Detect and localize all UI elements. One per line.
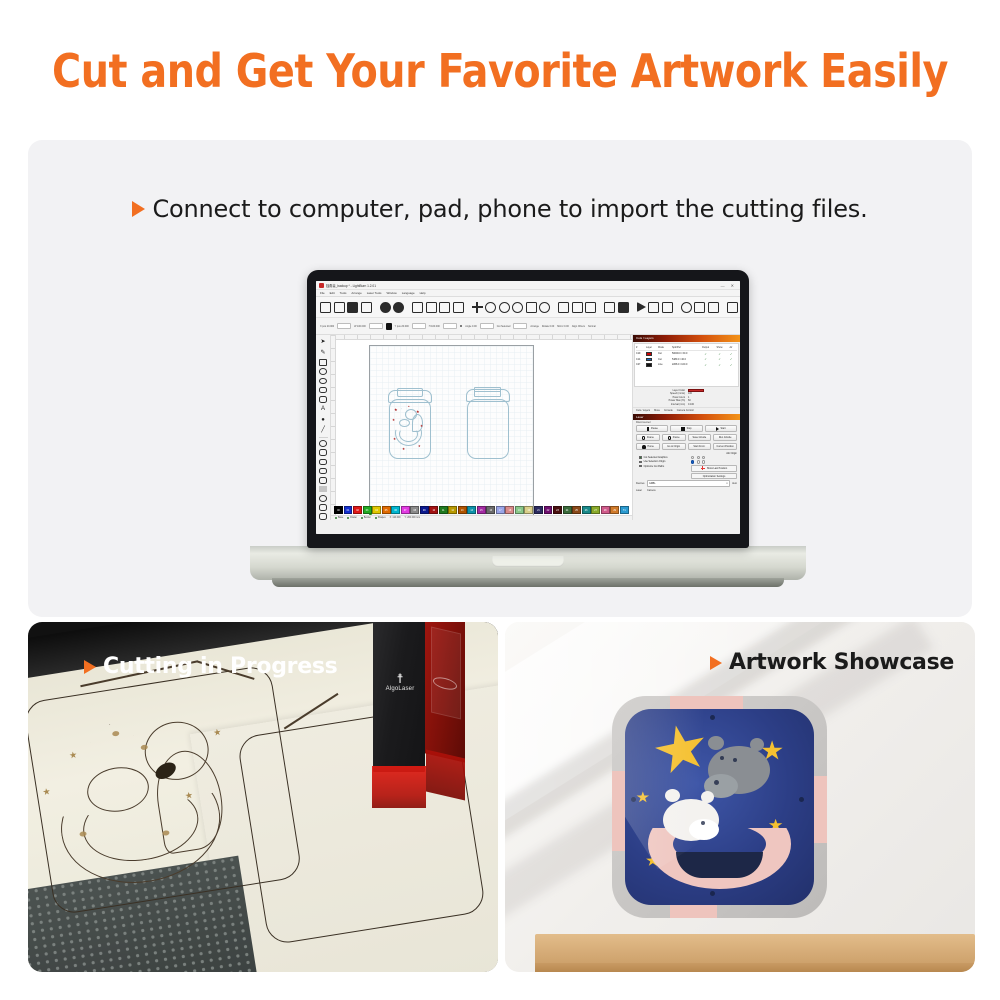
palette-swatch[interactable]: 17 bbox=[496, 506, 505, 514]
rotate-label: Rotate 0.00 bbox=[542, 325, 554, 328]
device-label: Devices bbox=[636, 482, 645, 485]
cuts-layers-panel-title: Cuts / Layers bbox=[633, 335, 740, 342]
palette-swatch[interactable]: 24 bbox=[563, 506, 572, 514]
grid-array-icon[interactable] bbox=[319, 486, 327, 492]
play-triangle-icon bbox=[132, 201, 145, 217]
design-shape-jar-right-neck-line[interactable] bbox=[474, 391, 501, 392]
weld-icon[interactable] bbox=[319, 477, 327, 484]
status-bar: Base Drawn Border bbox=[331, 515, 632, 521]
align-center-icon[interactable] bbox=[648, 302, 659, 313]
main-toolbar[interactable] bbox=[316, 297, 740, 318]
palette-swatch[interactable]: 26 bbox=[582, 506, 591, 514]
row-spdpwr: 2268.0 / 100.0 bbox=[672, 363, 698, 366]
menu-bar[interactable]: File Edit Tools Arrange Laser Tools Wind… bbox=[316, 290, 740, 297]
window-buttons[interactable]: — ✕ bbox=[721, 283, 737, 288]
polygon-icon[interactable] bbox=[319, 396, 327, 403]
angle-label: Angle 0.00 bbox=[465, 325, 476, 328]
design-node-star-icon: ★ bbox=[416, 409, 420, 414]
print-cut-icon[interactable] bbox=[319, 513, 327, 520]
cutting-badge-label: Cutting in Progress bbox=[103, 654, 337, 679]
redo-icon[interactable] bbox=[393, 302, 404, 313]
showcase-badge: Artwork Showcase bbox=[710, 650, 954, 675]
cuts-layers-table[interactable]: # Layer Mode Spd/Pwr Output Show Air bbox=[634, 343, 739, 387]
h-input[interactable] bbox=[443, 323, 457, 329]
start-from-label: Start From: bbox=[688, 443, 712, 450]
minimize-icon[interactable]: — bbox=[721, 283, 725, 288]
burn-star-icon: ★ bbox=[184, 790, 194, 802]
row-spdpwr: 50000.0 / 60.0 bbox=[672, 352, 698, 355]
home-button[interactable]: Home bbox=[636, 443, 660, 450]
zoom-in-icon[interactable] bbox=[485, 302, 496, 313]
design-node-star-icon: ★ bbox=[418, 444, 421, 448]
start-from-value[interactable]: Current Position bbox=[713, 443, 737, 450]
play-triangle-icon bbox=[710, 656, 722, 670]
design-shape-hippo-lower[interactable] bbox=[399, 419, 410, 427]
palette-swatch[interactable]: T1 bbox=[620, 506, 629, 514]
mounting-hole bbox=[799, 797, 804, 802]
row-output[interactable]: ✓ bbox=[699, 363, 712, 367]
lightburn-logo-icon bbox=[319, 283, 324, 288]
open-file-icon[interactable] bbox=[334, 302, 345, 313]
status-x: X: 110.000 bbox=[390, 517, 401, 519]
angle-input[interactable] bbox=[480, 323, 494, 329]
menu-laser-tools[interactable]: Laser Tools bbox=[367, 291, 382, 295]
zoom-fit-icon[interactable] bbox=[512, 302, 523, 313]
menu-edit[interactable]: Edit bbox=[330, 291, 335, 295]
status-border: Border bbox=[361, 517, 371, 519]
table-row[interactable]: C27 Line 2268.0 / 100.0 ✓ ✓ ✓ bbox=[636, 362, 737, 368]
palette-swatch[interactable]: 03 bbox=[363, 506, 372, 514]
new-file-icon[interactable] bbox=[320, 302, 331, 313]
origin-cell-mc[interactable] bbox=[697, 460, 700, 463]
cut-icon[interactable] bbox=[412, 302, 423, 313]
option-optimize-cut-paths[interactable]: Optimize Cut Paths bbox=[636, 464, 688, 468]
origin-cell-tl[interactable] bbox=[691, 456, 694, 459]
palette-swatch[interactable]: 09 bbox=[420, 506, 429, 514]
palette-swatch[interactable]: 15 bbox=[477, 506, 486, 514]
align-left-icon[interactable] bbox=[637, 302, 646, 312]
laser-module-front: ☨ AlgoLaser bbox=[373, 622, 425, 772]
status-base: Base bbox=[335, 517, 343, 519]
layer-color-label: Layer Color bbox=[636, 389, 685, 392]
go-to-origin-button[interactable]: Go to Origin bbox=[662, 443, 686, 450]
status-dot-icon bbox=[361, 517, 363, 519]
row-num: C14 bbox=[636, 358, 645, 361]
palette-swatch[interactable]: 22 bbox=[544, 506, 553, 514]
edit-nodes-icon[interactable]: ✎ bbox=[319, 349, 327, 357]
layer-color-swatch bbox=[688, 389, 704, 392]
edit-nodes-icon[interactable] bbox=[572, 302, 583, 313]
h-label: H 100.000 bbox=[429, 325, 440, 328]
laser-transport-buttons[interactable]: Pause Stop Start bbox=[633, 424, 740, 433]
row-air[interactable]: ✓ bbox=[727, 357, 735, 361]
crosshair-icon bbox=[701, 466, 705, 470]
job-origin-selector[interactable] bbox=[691, 456, 737, 464]
row-spdpwr: 5489.0 / 40.0 bbox=[672, 358, 698, 361]
algolaser-brand-text: AlgoLaser bbox=[385, 686, 415, 692]
wooden-shelf-edge bbox=[535, 963, 975, 972]
laser-panel: Laser Disconnected Pause bbox=[633, 414, 740, 493]
radial-array-icon[interactable] bbox=[319, 495, 327, 502]
design-node-star-icon: ★ bbox=[392, 418, 395, 422]
menu-tools[interactable]: Tools bbox=[340, 291, 347, 295]
w-label: W 100.000 bbox=[354, 325, 366, 328]
row-mode[interactable]: Cut bbox=[658, 352, 671, 355]
algolaser-logo-icon: ☨ bbox=[385, 672, 415, 685]
y-pos-label: Y pos 20.000 bbox=[395, 325, 409, 328]
normal-label: Normal bbox=[588, 325, 596, 328]
checkbox-icon bbox=[639, 461, 642, 464]
col-mode: Mode bbox=[658, 346, 671, 349]
play-triangle-icon bbox=[84, 660, 96, 674]
work-area[interactable]: ★ ★ ★ ★ ★ ★ ★ ● bbox=[369, 345, 534, 517]
frame-icon bbox=[642, 436, 646, 440]
layer-color-value[interactable] bbox=[688, 389, 737, 392]
app-title-bar: 独角兽_backup * - LightBurn 1.2.01 — ✕ bbox=[316, 281, 740, 290]
mirror-label: Mirror 0.00 bbox=[557, 325, 569, 328]
row-show[interactable]: ✓ bbox=[713, 357, 726, 361]
boolean-intersect-icon[interactable] bbox=[319, 468, 327, 475]
palette-swatch[interactable]: 07 bbox=[401, 506, 410, 514]
tab-cuts-layers[interactable]: Cuts / Layers bbox=[636, 409, 650, 412]
row-output[interactable]: ✓ bbox=[699, 357, 712, 361]
y-pos-input[interactable] bbox=[412, 323, 426, 329]
frame-icon[interactable] bbox=[558, 302, 569, 313]
row-layer-color[interactable] bbox=[646, 363, 657, 367]
delete-icon[interactable] bbox=[453, 302, 464, 313]
row-num: C27 bbox=[636, 363, 645, 366]
laptop-mockup: 独角兽_backup * - LightBurn 1.2.01 — ✕ File… bbox=[250, 270, 806, 595]
artwork-showcase-card: Artwork Showcase bbox=[505, 622, 975, 972]
save-icon[interactable] bbox=[347, 302, 358, 313]
design-artwork-group[interactable]: ★ ★ ★ ★ ★ ★ ★ ● bbox=[394, 406, 426, 452]
text-icon[interactable]: A bbox=[319, 405, 327, 413]
plaque-inner-blue-panel bbox=[625, 709, 814, 905]
properties-toolbar[interactable]: X pos 20.000 W 100.000 Y pos 20.000 H 10… bbox=[316, 318, 740, 335]
w-input[interactable] bbox=[369, 323, 383, 329]
palette-swatch[interactable]: 04 bbox=[372, 506, 381, 514]
frame-round-icon bbox=[668, 436, 672, 440]
tab-move[interactable]: Move bbox=[654, 409, 660, 412]
page-root: Cut and Get Your Favorite Artwork Easily… bbox=[0, 0, 1000, 1000]
row-air[interactable]: ✓ bbox=[727, 363, 735, 367]
ungroup-icon[interactable] bbox=[618, 302, 629, 313]
run-gcode-button[interactable]: Run GCode bbox=[713, 434, 737, 441]
origin-cell-mr[interactable] bbox=[702, 460, 705, 463]
align-right-icon[interactable] bbox=[662, 302, 673, 313]
row-layer-color[interactable] bbox=[646, 352, 657, 356]
col-air: Air bbox=[727, 346, 735, 349]
cut-selected-input[interactable] bbox=[513, 323, 527, 329]
weld-icon[interactable] bbox=[727, 302, 738, 313]
trace-image-icon[interactable] bbox=[319, 504, 327, 511]
palette-swatch[interactable]: 08 bbox=[410, 506, 419, 514]
interval-value[interactable]: 0.100 bbox=[688, 403, 737, 406]
optimization-settings-button[interactable]: Optimization Settings bbox=[691, 473, 737, 479]
checkbox-icon bbox=[639, 465, 642, 468]
row-show[interactable]: ✓ bbox=[713, 363, 726, 367]
mirror-icon[interactable] bbox=[694, 302, 705, 313]
palette-swatch[interactable]: 05 bbox=[382, 506, 391, 514]
right-dock: Cuts / Layers # Layer Mode Spd/Pwr Outpu… bbox=[632, 335, 740, 520]
design-shape-jar-left-neck[interactable] bbox=[397, 388, 423, 397]
artwork-plaque bbox=[612, 696, 827, 918]
position-marker-icon[interactable]: ● bbox=[319, 416, 327, 424]
zoom-out-icon[interactable] bbox=[499, 302, 510, 313]
status-shapes: Shapes bbox=[375, 517, 386, 519]
gray-hippo-ear-right bbox=[750, 738, 764, 751]
menu-arrange[interactable]: Arrange bbox=[351, 291, 361, 295]
status-dot-icon bbox=[347, 517, 349, 519]
job-origin-label: Job Origin bbox=[726, 452, 737, 455]
palette-swatch[interactable]: 19 bbox=[515, 506, 524, 514]
play-icon bbox=[716, 427, 719, 431]
device-select[interactable]: GRBL ▾ bbox=[647, 480, 731, 487]
frame-button[interactable]: Frame bbox=[636, 434, 660, 441]
laptop-screen: 独角兽_backup * - LightBurn 1.2.01 — ✕ File… bbox=[316, 281, 740, 534]
cutting-in-progress-card: ★ ★ ★ ★ ☨ AlgoLaser bbox=[28, 622, 498, 972]
laser-module-red-shield bbox=[372, 766, 426, 808]
palette-swatch[interactable]: 20 bbox=[524, 506, 533, 514]
palette-swatch[interactable]: 01 bbox=[344, 506, 353, 514]
anchor-dot-icon[interactable] bbox=[460, 325, 463, 328]
laser-module: ☨ AlgoLaser bbox=[373, 622, 459, 814]
row-num: C19 bbox=[636, 352, 645, 355]
show-last-position-button[interactable]: Show Last Position bbox=[691, 465, 737, 472]
origin-cell-tc[interactable] bbox=[697, 456, 700, 459]
showcase-badge-label: Artwork Showcase bbox=[729, 650, 954, 675]
device-mode: Auto bbox=[732, 482, 737, 485]
offset-icon[interactable] bbox=[319, 440, 327, 447]
pause-button[interactable]: Pause bbox=[636, 425, 668, 432]
row-show[interactable]: ✓ bbox=[713, 352, 726, 356]
align-others-label: Align Others bbox=[572, 325, 585, 328]
save-gcode-button[interactable]: Save GCode bbox=[688, 434, 712, 441]
rectangle-icon[interactable] bbox=[319, 359, 327, 366]
origin-cell-tr[interactable] bbox=[702, 456, 705, 459]
col-layer: Layer bbox=[646, 346, 657, 349]
chevron-down-icon: ▾ bbox=[726, 482, 727, 485]
col-show: Show bbox=[713, 346, 726, 349]
stop-icon bbox=[681, 427, 685, 431]
laptop-base bbox=[250, 546, 806, 580]
burn-star-icon: ★ bbox=[68, 750, 78, 762]
palette-swatch[interactable]: 27 bbox=[591, 506, 600, 514]
lock-icon[interactable] bbox=[386, 323, 392, 330]
palette-swatch[interactable]: 14 bbox=[467, 506, 476, 514]
row-output[interactable]: ✓ bbox=[699, 352, 712, 356]
save-as-icon[interactable] bbox=[361, 302, 372, 313]
toolbar-divider bbox=[319, 437, 328, 438]
laptop-lid: 独角兽_backup * - LightBurn 1.2.01 — ✕ File… bbox=[307, 270, 749, 548]
design-node-dot-icon: ● bbox=[408, 405, 410, 408]
laser-options-block: Cut Selected Graphics Use Selection Orig… bbox=[633, 456, 740, 480]
interval-label: Interval (mm) bbox=[636, 403, 685, 406]
zoom-page-icon[interactable] bbox=[539, 302, 550, 313]
top-card-subtitle-row: Connect to computer, pad, phone to impor… bbox=[28, 195, 972, 223]
design-shape-tail[interactable] bbox=[412, 414, 423, 432]
cuts-layers-tabs[interactable]: Cuts / Layers Move Console Camera Contro… bbox=[633, 407, 740, 413]
copy-icon[interactable] bbox=[426, 302, 437, 313]
design-shape-jar-right-neck[interactable] bbox=[474, 387, 501, 397]
menu-help[interactable]: Help bbox=[420, 291, 426, 295]
home-icon bbox=[642, 445, 646, 449]
pause-icon bbox=[647, 427, 650, 431]
circle-icon[interactable] bbox=[319, 378, 327, 385]
laptop-foot bbox=[272, 578, 784, 587]
left-toolbar[interactable]: ➤ ✎ A ● ╱ bbox=[316, 335, 331, 520]
laser-tabs[interactable]: Laser Camera bbox=[633, 488, 740, 493]
boolean-subtract-icon[interactable] bbox=[319, 459, 327, 466]
rotate-icon[interactable] bbox=[681, 302, 692, 313]
top-card: Connect to computer, pad, phone to impor… bbox=[28, 140, 972, 617]
group-icon[interactable] bbox=[604, 302, 615, 313]
undo-icon[interactable] bbox=[380, 302, 391, 313]
checkbox-icon bbox=[639, 456, 642, 459]
ellipse-icon[interactable] bbox=[319, 368, 327, 375]
paste-icon[interactable] bbox=[439, 302, 450, 313]
top-card-subtitle: Connect to computer, pad, phone to impor… bbox=[152, 195, 867, 223]
stop-button[interactable]: Stop bbox=[670, 425, 702, 432]
boolean-union-icon[interactable] bbox=[319, 449, 327, 456]
row-mode[interactable]: Cut bbox=[658, 358, 671, 361]
laser-frame-buttons[interactable]: Frame Frame Save GCode Run GCode bbox=[633, 433, 740, 442]
tab-laser[interactable]: Laser bbox=[636, 489, 642, 492]
palette-swatch[interactable]: 02 bbox=[353, 506, 362, 514]
row-layer-color[interactable] bbox=[646, 358, 657, 362]
palette-swatch[interactable]: 12 bbox=[448, 506, 457, 514]
cut-selected-label: Cut Selected bbox=[497, 325, 511, 328]
origin-cell-ml[interactable] bbox=[691, 460, 694, 463]
design-node-star-icon: ★ bbox=[394, 407, 398, 412]
col-output: Output bbox=[699, 346, 712, 349]
palette-swatch[interactable]: 25 bbox=[572, 506, 581, 514]
palette-swatch[interactable]: 28 bbox=[601, 506, 610, 514]
frame-round-button[interactable]: Frame bbox=[662, 434, 686, 441]
row-air[interactable]: ✓ bbox=[727, 352, 735, 356]
palette-swatch[interactable]: 18 bbox=[505, 506, 514, 514]
menu-file[interactable]: File bbox=[320, 291, 325, 295]
app-body: ➤ ✎ A ● ╱ bbox=[316, 335, 740, 520]
laser-origin-buttons[interactable]: Home Go to Origin Start From: Current Po… bbox=[633, 442, 740, 451]
status-dot-icon bbox=[335, 517, 337, 519]
design-canvas[interactable]: ★ ★ ★ ★ ★ ★ ★ ● bbox=[336, 340, 632, 520]
select-arrow-icon[interactable]: ➤ bbox=[319, 338, 327, 346]
col-spdpwr: Spd/Pwr bbox=[672, 346, 698, 349]
algolaser-logo: ☨ AlgoLaser bbox=[385, 672, 415, 692]
zoom-selection-icon[interactable] bbox=[526, 302, 537, 313]
tab-camera[interactable]: Camera bbox=[647, 489, 656, 492]
laser-module-label bbox=[431, 627, 461, 720]
x-pos-input[interactable] bbox=[337, 323, 351, 329]
color-palette[interactable]: 0001020304050607080910111213141516171819… bbox=[331, 506, 632, 515]
menu-language[interactable]: Language bbox=[402, 291, 415, 295]
arrange-label: Arrange bbox=[530, 325, 539, 328]
close-icon[interactable]: ✕ bbox=[731, 283, 734, 288]
start-button[interactable]: Start bbox=[705, 425, 737, 432]
design-shape-jar-right-body[interactable] bbox=[467, 399, 509, 459]
window-title: 独角兽_backup * - LightBurn 1.2.01 bbox=[326, 283, 376, 288]
design-node-star-icon: ★ bbox=[402, 447, 405, 451]
burn-star-icon: ★ bbox=[42, 786, 52, 798]
mouth-slot bbox=[676, 852, 763, 878]
mounting-hole bbox=[710, 891, 715, 896]
offset-icon[interactable] bbox=[708, 302, 719, 313]
design-node-star-icon: ★ bbox=[393, 437, 396, 441]
cut-shapes-icon[interactable] bbox=[585, 302, 596, 313]
status-dot-icon bbox=[375, 517, 377, 519]
tab-camera-control[interactable]: Camera Control bbox=[677, 409, 694, 412]
tab-console[interactable]: Console bbox=[664, 409, 673, 412]
palette-swatch[interactable]: 11 bbox=[439, 506, 448, 514]
palette-swatch[interactable]: 00 bbox=[334, 506, 343, 514]
rounded-rect-icon[interactable] bbox=[319, 387, 327, 394]
cutting-badge: Cutting in Progress bbox=[84, 654, 337, 679]
canvas-area[interactable]: ★ ★ ★ ★ ★ ★ ★ ● bbox=[331, 335, 632, 520]
palette-swatch[interactable]: 16 bbox=[486, 506, 495, 514]
palette-swatch[interactable]: 13 bbox=[458, 506, 467, 514]
x-pos-label: X pos 20.000 bbox=[320, 325, 334, 328]
lightburn-app: 独角兽_backup * - LightBurn 1.2.01 — ✕ File… bbox=[316, 281, 740, 534]
move-icon[interactable] bbox=[472, 302, 483, 313]
page-title: Cut and Get Your Favorite Artwork Easily bbox=[20, 44, 980, 98]
line-icon[interactable]: ╱ bbox=[319, 426, 327, 434]
status-y: Y: 200.000 mm bbox=[405, 517, 420, 519]
design-node-star-icon: ★ bbox=[420, 424, 423, 428]
laser-module-base-side bbox=[426, 749, 465, 800]
palette-swatch[interactable]: 10 bbox=[429, 506, 438, 514]
menu-window[interactable]: Window bbox=[386, 291, 396, 295]
palette-swatch[interactable]: 23 bbox=[553, 506, 562, 514]
palette-swatch[interactable]: 29 bbox=[610, 506, 619, 514]
col-num: # bbox=[636, 346, 645, 349]
status-drawn: Drawn bbox=[347, 517, 357, 519]
row-mode[interactable]: Line bbox=[658, 363, 671, 366]
burn-star-icon: ★ bbox=[213, 727, 223, 739]
palette-swatch[interactable]: 21 bbox=[534, 506, 543, 514]
palette-swatch[interactable]: 06 bbox=[391, 506, 400, 514]
cut-info[interactable]: Layer Color Speed (mm/s) 100 Pass Count … bbox=[633, 388, 740, 407]
device-row[interactable]: Devices GRBL ▾ Auto bbox=[633, 479, 740, 488]
